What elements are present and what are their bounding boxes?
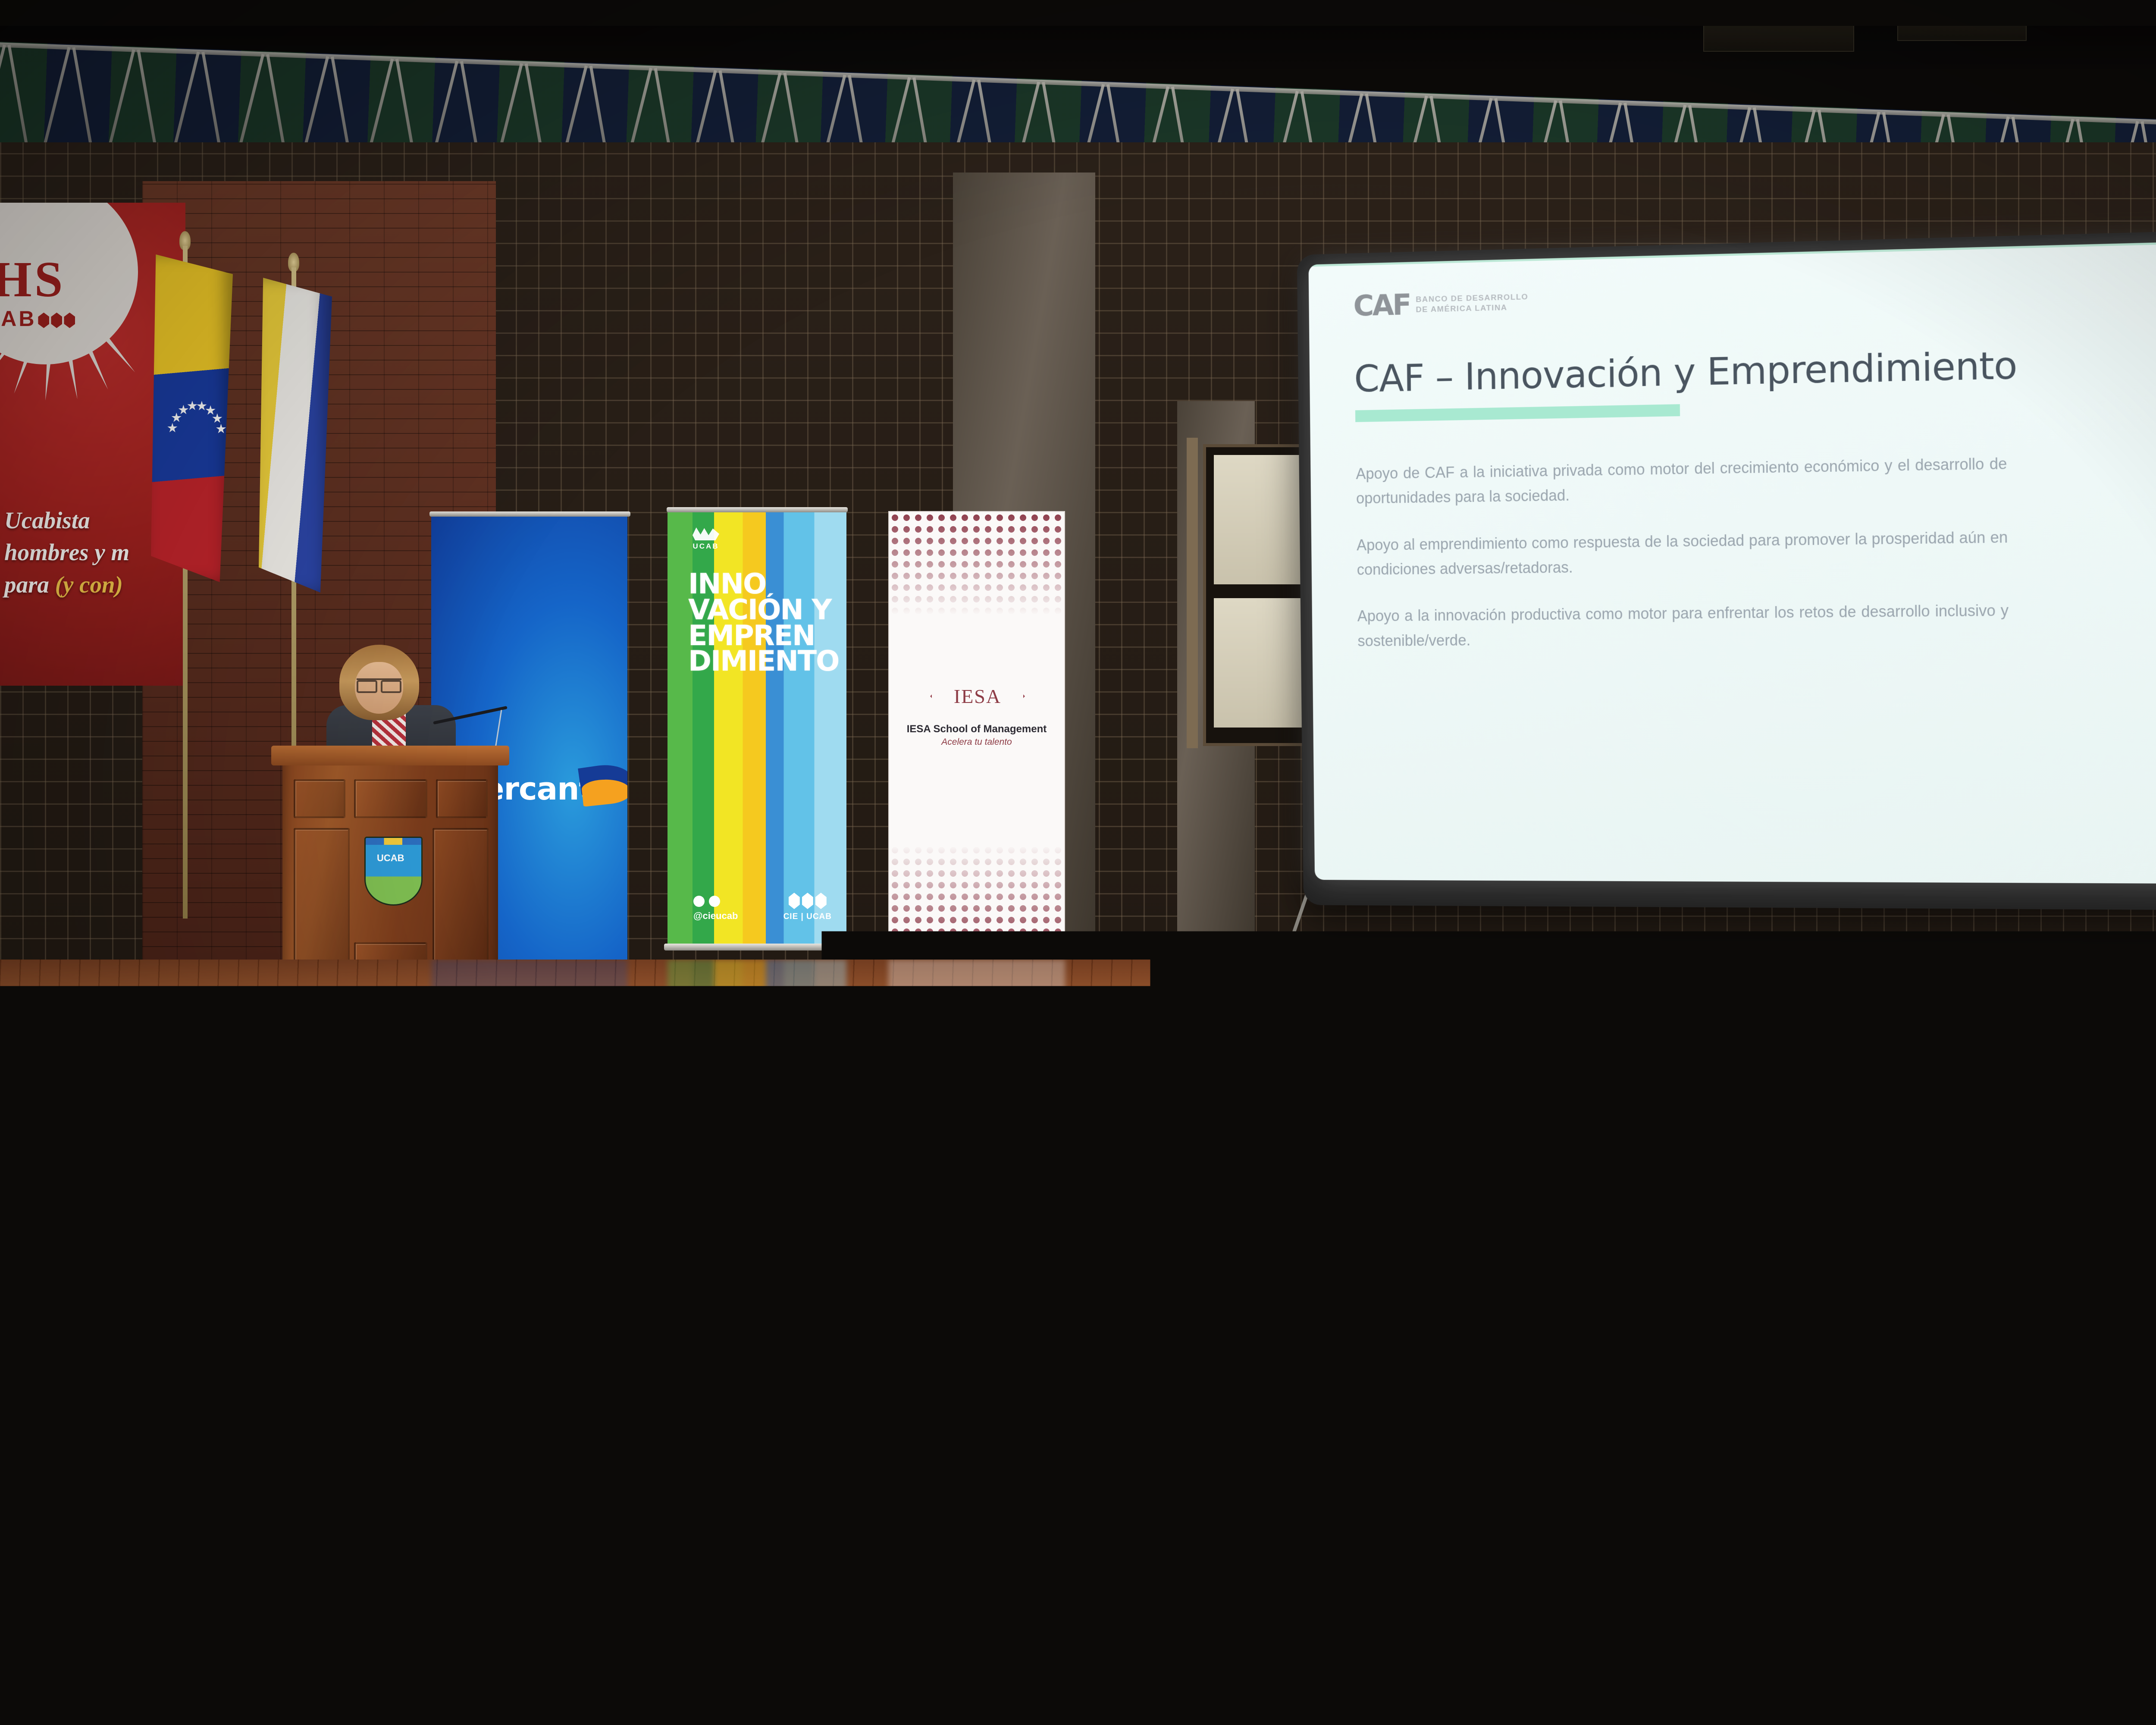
banner-iesa: IESA IESA School of Management Acelera t… xyxy=(888,511,1065,949)
twitter-icon xyxy=(693,896,705,907)
auditorium-seat[interactable] xyxy=(858,1646,1006,1725)
audience-member-head xyxy=(914,1289,937,1317)
podium-top-ledge xyxy=(271,746,509,765)
flag-star-icon xyxy=(212,413,222,423)
slide-surface: CAF BANCO DE DESARROLLO DE AMÉRICA LATIN… xyxy=(1309,238,2156,884)
audience-member xyxy=(2044,1591,2138,1725)
innovacion-title-line-2: VACIÓN Y xyxy=(688,597,839,623)
auditorium-seat[interactable] xyxy=(404,1562,540,1656)
banner-stand-innovacion xyxy=(664,944,850,950)
audience-member-head xyxy=(1719,1591,1773,1656)
podium-panel-top-left xyxy=(294,779,345,818)
innovacion-handle: @cieucab xyxy=(693,910,738,921)
audience-member-head xyxy=(1606,1436,1645,1483)
audience-member-shoulders xyxy=(1354,1652,1448,1725)
audience-member-shoulders xyxy=(1699,1652,1793,1725)
iesa-dot-pattern-bottom xyxy=(889,844,1064,948)
social-icons xyxy=(693,896,738,907)
projection-screen[interactable]: CAF BANCO DE DESARROLLO DE AMÉRICA LATIN… xyxy=(1297,228,2156,911)
auditorium-seat[interactable] xyxy=(1128,1486,1253,1572)
audience-member xyxy=(1656,1376,1713,1463)
audience-member-shoulders xyxy=(1544,1556,1623,1626)
audience-member-head xyxy=(692,1436,731,1483)
iesa-tagline: Acelera tu talento xyxy=(889,737,1064,747)
audience-member-shoulders xyxy=(1932,1316,1972,1352)
audience-member-head xyxy=(1940,1289,1964,1317)
audience-member-shoulders xyxy=(1656,1413,1713,1463)
flag-star-icon xyxy=(178,405,188,415)
audience-member-shoulders xyxy=(1268,1413,1325,1463)
audience-member xyxy=(678,1436,745,1539)
auditorium-seat[interactable] xyxy=(527,1646,675,1725)
audience-member xyxy=(1544,1505,1623,1626)
audience-member-head xyxy=(474,1289,498,1317)
audience-member xyxy=(906,1289,946,1351)
caf-descriptor: BANCO DE DESARROLLO DE AMÉRICA LATINA xyxy=(1416,292,1529,315)
auditorium-seat[interactable] xyxy=(1926,1562,2062,1656)
flag-cloth-venezuela xyxy=(151,254,233,582)
hex-icon xyxy=(815,893,827,909)
audience-member xyxy=(664,1591,758,1725)
audience-member xyxy=(1482,1330,1530,1405)
cie-ucab-label: CIE | UCAB xyxy=(783,912,832,921)
auditorium-seat[interactable] xyxy=(1267,1486,1391,1572)
audience-member-shoulders xyxy=(1145,1362,1194,1405)
audience-member-head xyxy=(684,1591,738,1656)
audience-member-head xyxy=(1836,1505,1882,1560)
cie-hex-icons xyxy=(783,893,832,909)
auditorium-seat[interactable] xyxy=(295,1486,420,1572)
audience-member-shoulders xyxy=(2044,1413,2101,1463)
audience-member-head xyxy=(1354,1289,1377,1317)
podium-panel-left xyxy=(294,828,350,975)
audience-member-head xyxy=(1156,1330,1184,1364)
audience-member-head xyxy=(2064,1591,2118,1656)
banner-rail-mercantil-top xyxy=(429,511,630,517)
innovacion-social: @cieucab xyxy=(693,896,738,922)
audience-member-shoulders xyxy=(2044,1652,2138,1725)
ucab-red-label: UCAB xyxy=(0,307,36,331)
audience-member-shoulders xyxy=(809,1362,857,1405)
auditorium-seat[interactable] xyxy=(0,1486,3,1572)
ucab-red-wordmark: UCAB xyxy=(0,306,75,331)
audience-member-head xyxy=(483,1330,511,1364)
auditorium-seat[interactable] xyxy=(1706,1418,1818,1495)
auditorium-seat[interactable] xyxy=(0,1562,84,1656)
flag-star-icon xyxy=(167,423,178,433)
audience-member xyxy=(298,1376,355,1463)
auditorium-seat[interactable] xyxy=(1962,1486,2086,1572)
auditorium-seat[interactable] xyxy=(100,1562,236,1656)
podium-panel-top-right xyxy=(436,779,488,818)
caf-logo: CAF BANCO DE DESARROLLO DE AMÉRICA LATIN… xyxy=(1353,285,1529,323)
flag-star-icon xyxy=(216,424,226,434)
flag-star-icon xyxy=(197,401,207,411)
auditorium-seat[interactable] xyxy=(990,1486,1114,1572)
audience-member-head xyxy=(698,1376,730,1415)
audience-area xyxy=(0,1160,2156,1725)
innovacion-title-line-1: INNO xyxy=(688,571,839,597)
audience-member xyxy=(1986,1330,2034,1405)
slide-paragraph-3: Apoyo a la innovación productiva como mo… xyxy=(1357,598,2009,653)
floor-reflection-screen xyxy=(1311,960,2156,1089)
tagline-gold-word: (y con) xyxy=(55,571,123,598)
auditorium-seat[interactable] xyxy=(434,1486,558,1572)
flag-star-icon xyxy=(187,401,197,411)
audience-member-head xyxy=(328,1289,351,1317)
audience-member-shoulders xyxy=(1986,1362,2034,1405)
audience-member xyxy=(2078,1289,2119,1351)
auditorium-seat[interactable] xyxy=(576,1418,688,1495)
audience-member-head xyxy=(819,1330,847,1364)
audience-member xyxy=(809,1330,857,1405)
auditorium-seat[interactable] xyxy=(31,1646,179,1725)
audience-member-shoulders xyxy=(2078,1316,2119,1352)
flag-star-icon xyxy=(171,413,182,423)
auditorium-seat[interactable] xyxy=(1684,1486,1808,1572)
stage-light-reflection xyxy=(1526,964,1557,1041)
ucab-hex-icon xyxy=(38,313,49,328)
auditorium-seat[interactable] xyxy=(1520,1646,1667,1725)
audience-member-head xyxy=(2087,1289,2110,1317)
audience-member-shoulders xyxy=(319,1652,413,1725)
crest-stripe xyxy=(366,838,421,845)
slide-title-underline xyxy=(1355,404,1680,422)
audience-member xyxy=(1345,1289,1386,1351)
auditorium-seat[interactable] xyxy=(1850,1646,1998,1725)
audience-member-shoulders xyxy=(906,1316,946,1352)
audience-member-shoulders xyxy=(1345,1316,1386,1352)
audience-member xyxy=(2044,1376,2101,1463)
audience-member-shoulders xyxy=(880,1413,937,1463)
audience-member-shoulders xyxy=(1820,1556,1899,1626)
innovacion-title: INNO VACIÓN Y EMPREN DIMIENTO xyxy=(688,571,839,674)
audience-member-shoulders xyxy=(473,1362,521,1405)
audience-member xyxy=(1699,1591,1793,1725)
audience-member-head xyxy=(34,1289,58,1317)
door-frame-trim xyxy=(1187,438,1198,748)
audience-member xyxy=(880,1376,937,1463)
speaker-glasses-icon xyxy=(357,678,401,688)
slide-title: CAF – Innovación y Emprendimiento xyxy=(1354,343,2017,401)
audience-member-head xyxy=(892,1376,924,1415)
banner-innovacion: UCAB INNO VACIÓN Y EMPREN DIMIENTO @cieu… xyxy=(667,511,846,947)
slide-paragraph-2: Apoyo al emprendimiento como respuesta d… xyxy=(1357,524,2008,582)
auditorium-seat[interactable] xyxy=(1078,1418,1191,1495)
audience-member xyxy=(1820,1505,1899,1626)
auditorium-seat[interactable] xyxy=(861,1562,997,1656)
audience-member xyxy=(1009,1591,1103,1725)
flag-star-icon xyxy=(205,405,216,416)
ucab-hex-icon xyxy=(64,313,75,328)
innovacion-title-line-4: DIMIENTO xyxy=(688,649,839,674)
audience-member-shoulders xyxy=(298,1413,355,1463)
audience-member-head xyxy=(1501,1289,1524,1317)
auditorium-seat[interactable] xyxy=(0,1646,13,1725)
auditorium-seat[interactable] xyxy=(74,1418,186,1495)
audience-member xyxy=(319,1591,413,1725)
ucab-brand-label: UCAB xyxy=(693,542,719,550)
auditorium-seat[interactable] xyxy=(451,1418,563,1495)
audience-member-shoulders xyxy=(664,1652,758,1725)
audience-member-head xyxy=(339,1591,393,1656)
audience-member-head xyxy=(1374,1591,1428,1656)
ihs-monogram: IHS xyxy=(0,250,65,309)
ucab-logo-innovacion: UCAB xyxy=(693,527,719,551)
flag-cloth-ucab xyxy=(259,278,332,593)
audience-member-head xyxy=(2056,1376,2089,1415)
tagline-line-3: para (y con) xyxy=(4,569,185,601)
podium-panel-right xyxy=(432,828,489,975)
crest-label: UCAB xyxy=(377,853,404,864)
iesa-logo: IESA xyxy=(930,678,1025,715)
audience-member-head xyxy=(315,1330,343,1364)
auditorium-seat[interactable] xyxy=(953,1418,1065,1495)
auditorium-seat[interactable] xyxy=(1406,1486,1530,1572)
auditorium-seat[interactable] xyxy=(18,1486,142,1572)
ceiling-beam xyxy=(0,0,2156,26)
auditorium-scene: IHS UCAB Ucabista hombres y m para (y co… xyxy=(0,0,2156,1725)
audience-member-head xyxy=(1029,1591,1083,1656)
auditorium-seat[interactable] xyxy=(1455,1418,1567,1495)
auditorium-seat[interactable] xyxy=(0,1418,60,1495)
audience-member xyxy=(1932,1289,1972,1351)
floor-reflection-innovacion xyxy=(667,960,846,1089)
audience-member-head xyxy=(1668,1376,1701,1415)
ucab-glyph-icon xyxy=(693,527,719,540)
audience-member-head xyxy=(1561,1505,1606,1560)
audience-member-shoulders xyxy=(1052,1316,1093,1352)
auditorium-seat[interactable] xyxy=(157,1486,281,1572)
slide-body: Apoyo de CAF a la iniciativa privada com… xyxy=(1356,451,2009,675)
floor-reflection-iesa xyxy=(888,960,1065,1085)
audience-member xyxy=(1052,1289,1093,1351)
instagram-icon xyxy=(709,896,720,907)
audience-member xyxy=(26,1289,66,1351)
cie-ucab-logo: CIE | UCAB xyxy=(783,893,832,922)
auditorium-seat[interactable] xyxy=(851,1486,975,1572)
audience-member-shoulders xyxy=(26,1316,66,1352)
audience-member-head xyxy=(1061,1289,1084,1317)
iesa-dot-pattern-top xyxy=(889,512,1064,615)
audience-member-shoulders xyxy=(1482,1362,1530,1405)
auditorium-seat[interactable] xyxy=(2100,1486,2156,1572)
audience-member xyxy=(1268,1376,1325,1463)
potted-palm-left xyxy=(1128,707,1253,957)
slide-paragraph-1: Apoyo de CAF a la iniciativa privada com… xyxy=(1356,451,2007,511)
hex-icon xyxy=(789,893,800,909)
audience-member xyxy=(1145,1330,1194,1405)
ucab-hex-icon xyxy=(51,313,62,328)
iesa-logo-text: IESA xyxy=(954,685,1001,708)
hex-icon xyxy=(802,893,813,909)
auditorium-seat[interactable] xyxy=(199,1418,311,1495)
ucab-crest: UCAB xyxy=(364,837,423,906)
auditorium-seat[interactable] xyxy=(1832,1418,1944,1495)
audience-member-head xyxy=(1996,1330,2024,1364)
auditorium-seat[interactable] xyxy=(1189,1646,1337,1725)
auditorium-seat[interactable] xyxy=(1329,1418,1442,1495)
audience-member xyxy=(1354,1591,1448,1725)
stage-floor xyxy=(0,960,2156,1145)
podium-panel-top-center xyxy=(354,779,427,818)
stage-front-edge xyxy=(0,1138,2156,1162)
audience-member-head xyxy=(310,1376,342,1415)
audience-member xyxy=(473,1330,521,1405)
banner-rail-innovacion-top xyxy=(667,507,848,512)
iesa-school-name: IESA School of Management xyxy=(889,723,1064,735)
auditorium-seat[interactable] xyxy=(1165,1562,1301,1656)
audience-member-head xyxy=(1660,1330,1688,1364)
audience-member-head xyxy=(1492,1330,1520,1364)
venezuela-stars xyxy=(166,397,222,461)
floor-reflection-mercantil xyxy=(431,960,627,1067)
audience-member-head xyxy=(1280,1376,1313,1415)
caf-wordmark: CAF xyxy=(1353,288,1410,323)
audience-member-shoulders xyxy=(678,1480,745,1539)
audience-member-shoulders xyxy=(1009,1652,1103,1725)
tagline-word: para xyxy=(4,571,49,598)
